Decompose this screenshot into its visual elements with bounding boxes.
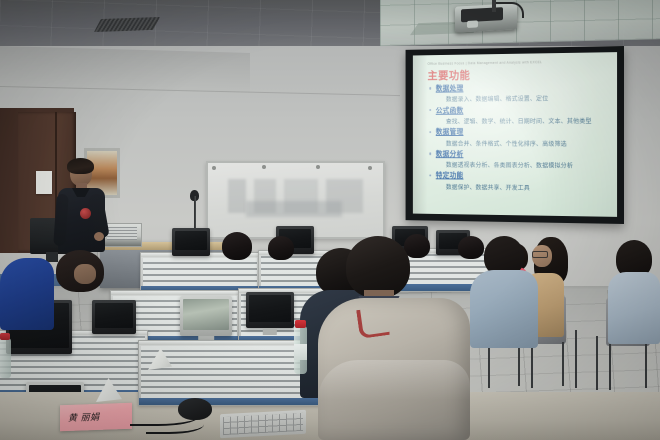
ceiling-vent-icon: [94, 17, 160, 32]
monitor-screen: [175, 231, 207, 250]
head: [346, 236, 410, 298]
chair-leg: [488, 344, 490, 388]
screen-surface: Office Business Focus | Data Management …: [413, 52, 617, 217]
bottle-cap: [0, 333, 10, 340]
keyboard: [220, 410, 306, 439]
torso: [608, 272, 660, 344]
monitor: [246, 292, 294, 328]
partition-base: [139, 398, 323, 405]
shirt-logo: [80, 208, 91, 219]
whiteboard-clip: [368, 166, 372, 170]
slide-title: 主要功能: [427, 67, 470, 83]
monitor: [92, 300, 136, 334]
paper-notice: [36, 171, 52, 194]
chair-leg: [562, 342, 564, 386]
chair-leg: [609, 344, 611, 390]
slide-section-detail: 数据录入、数据编辑、格式设置、定位: [429, 94, 609, 104]
monitor-screen: [183, 299, 229, 330]
slide-section-heading: 特定功能: [429, 171, 609, 182]
chair-leg: [518, 344, 520, 386]
whiteboard-clip: [316, 165, 320, 169]
monitor: [172, 228, 210, 256]
projection-screen: Office Business Focus | Data Management …: [406, 46, 624, 224]
monitor: [180, 296, 232, 336]
face: [74, 264, 96, 284]
classroom-photo: Office Business Focus | Data Management …: [0, 0, 660, 440]
slide-section: 公式函数 查找、逻辑、数学、统计、日期时间、文本、其他类型: [429, 105, 609, 126]
slide-body: 数据处理 数据录入、数据编辑、格式设置、定位 公式函数 查找、逻辑、数学、统计、…: [429, 82, 609, 195]
chair-leg: [596, 336, 598, 390]
slide-header-line: Office Business Focus | Data Management …: [427, 59, 607, 66]
whiteboard-clip: [262, 165, 266, 169]
partition-louvers: [143, 258, 257, 288]
slide-section-heading: 数据分析: [429, 149, 609, 159]
screen-edge-shadow: [413, 55, 428, 214]
slide-section-heading: 数据处理: [429, 82, 609, 94]
torso: [318, 298, 470, 440]
slide-section-detail: 数据保护、数据共享、开发工具: [429, 182, 609, 193]
slide-section-heading: 公式函数: [429, 105, 609, 116]
person-blue-jacket: [0, 258, 54, 330]
slide-section-detail: 查找、逻辑、数学、统计、日期时间、文本、其他类型: [429, 116, 609, 125]
person-blue-shirt-center: [470, 236, 540, 346]
person-grey-jacket-foreground: [318, 236, 478, 440]
chair-leg: [645, 344, 647, 388]
torso: [470, 270, 538, 348]
name-card-text: 黄 丽娟: [68, 410, 99, 424]
lanyard: [356, 306, 390, 339]
student-head: [222, 232, 252, 260]
name-card: 黄 丽娟: [60, 403, 132, 432]
projector-cable: [496, 2, 524, 18]
monitor-screen: [95, 303, 133, 328]
partition-rail: [111, 291, 239, 295]
hand: [94, 232, 104, 241]
monitor-stand: [263, 328, 277, 335]
monitor-screen: [249, 295, 291, 322]
bottle-cap: [295, 320, 306, 328]
whiteboard-erased-writing-2: [246, 201, 342, 217]
chair-leg: [575, 330, 577, 388]
slide-section: 数据处理 数据录入、数据编辑、格式设置、定位: [429, 82, 609, 103]
jacket-highlight: [318, 360, 470, 400]
chair-leg: [531, 342, 533, 388]
whiteboard-clip: [212, 166, 216, 170]
computer-mouse: [178, 398, 212, 420]
water-bottle: [0, 338, 11, 378]
keyboard-keys: [223, 413, 303, 435]
projector-lens: [467, 20, 478, 28]
hair: [67, 158, 94, 174]
slide-section: 特定功能 数据保护、数据共享、开发工具: [429, 171, 609, 193]
student-head: [268, 236, 294, 260]
slide-section: 数据管理 数据合并、条件格式、个性化排序、高级筛选: [429, 127, 609, 147]
slide-section: 数据分析 数据透视表分析、各类图表分析、数据模拟分析: [429, 149, 609, 170]
bottle-label: [294, 344, 307, 360]
person-seated-blue-shirt: [608, 240, 660, 344]
slide-section-detail: 数据透视表分析、各类图表分析、数据模拟分析: [429, 160, 609, 170]
slide-section-detail: 数据合并、条件格式、个性化排序、高级筛选: [429, 138, 609, 147]
slide-section-heading: 数据管理: [429, 127, 609, 137]
